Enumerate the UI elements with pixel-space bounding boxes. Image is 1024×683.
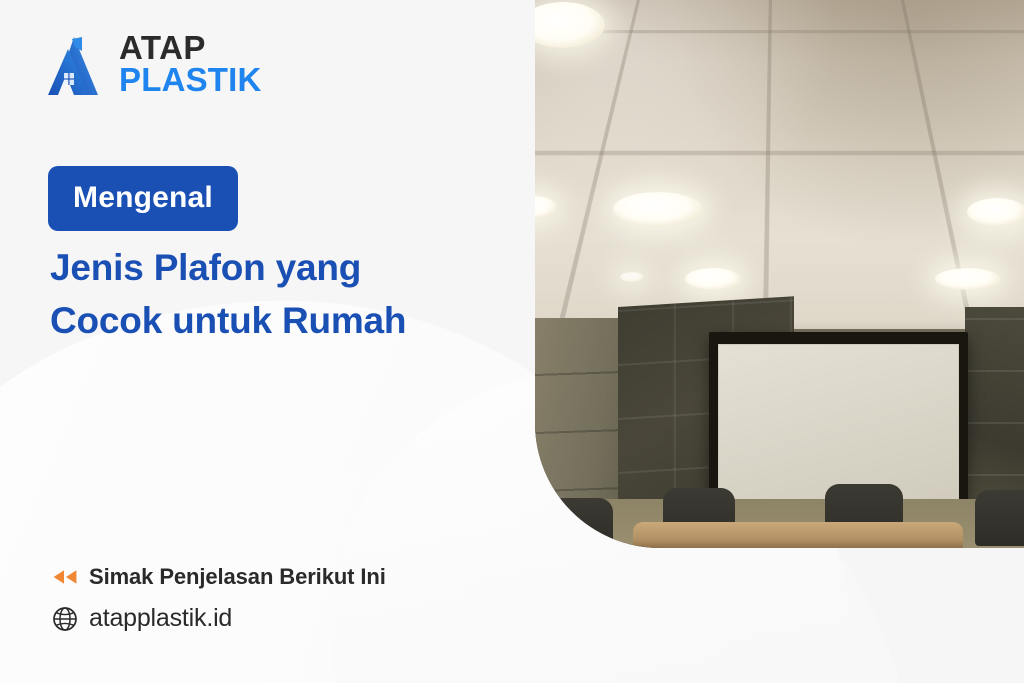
ceiling-texture — [535, 0, 1024, 340]
office-chair — [549, 498, 613, 546]
headline-line-1: Jenis Plafon yang — [50, 241, 520, 294]
brand-name-bottom: PLASTIK — [119, 65, 262, 95]
brand-name-top: ATAP — [119, 33, 262, 63]
ceiling-tile-grid — [535, 0, 1024, 340]
brand-wordmark: ATAP PLASTIK — [119, 33, 262, 95]
ceiling-downlight — [967, 198, 1024, 226]
headline-line-2: Cocok untuk Rumah — [50, 294, 520, 347]
brand-logo[interactable]: ATAP PLASTIK — [48, 33, 262, 95]
rewind-double-left-icon — [52, 568, 78, 586]
ceiling-downlight — [685, 268, 741, 290]
hero-photo — [535, 0, 1024, 548]
globe-icon — [52, 606, 78, 632]
cta-row: Simak Penjelasan Berikut Ini — [52, 564, 386, 590]
website-label: atapplastik.id — [89, 604, 232, 633]
conference-table — [633, 522, 963, 548]
ceiling-downlight — [620, 272, 644, 282]
ceiling-downlight — [613, 192, 703, 226]
atap-plastik-house-logo-icon — [48, 33, 106, 95]
category-badge: Mengenal — [48, 166, 238, 231]
cta-label: Simak Penjelasan Berikut Ini — [89, 564, 386, 590]
ceiling-downlight — [935, 268, 1001, 290]
website-row[interactable]: atapplastik.id — [52, 604, 386, 633]
poster-canvas: ATAP PLASTIK Mengenal Jenis Plafon yang … — [0, 0, 1024, 683]
meeting-room-photo — [535, 0, 1024, 548]
page-title: Jenis Plafon yang Cocok untuk Rumah — [50, 241, 520, 348]
footer-block: Simak Penjelasan Berikut Ini atapplastik… — [52, 564, 386, 633]
office-chair — [975, 490, 1024, 546]
content-column: ATAP PLASTIK Mengenal Jenis Plafon yang … — [0, 0, 535, 683]
